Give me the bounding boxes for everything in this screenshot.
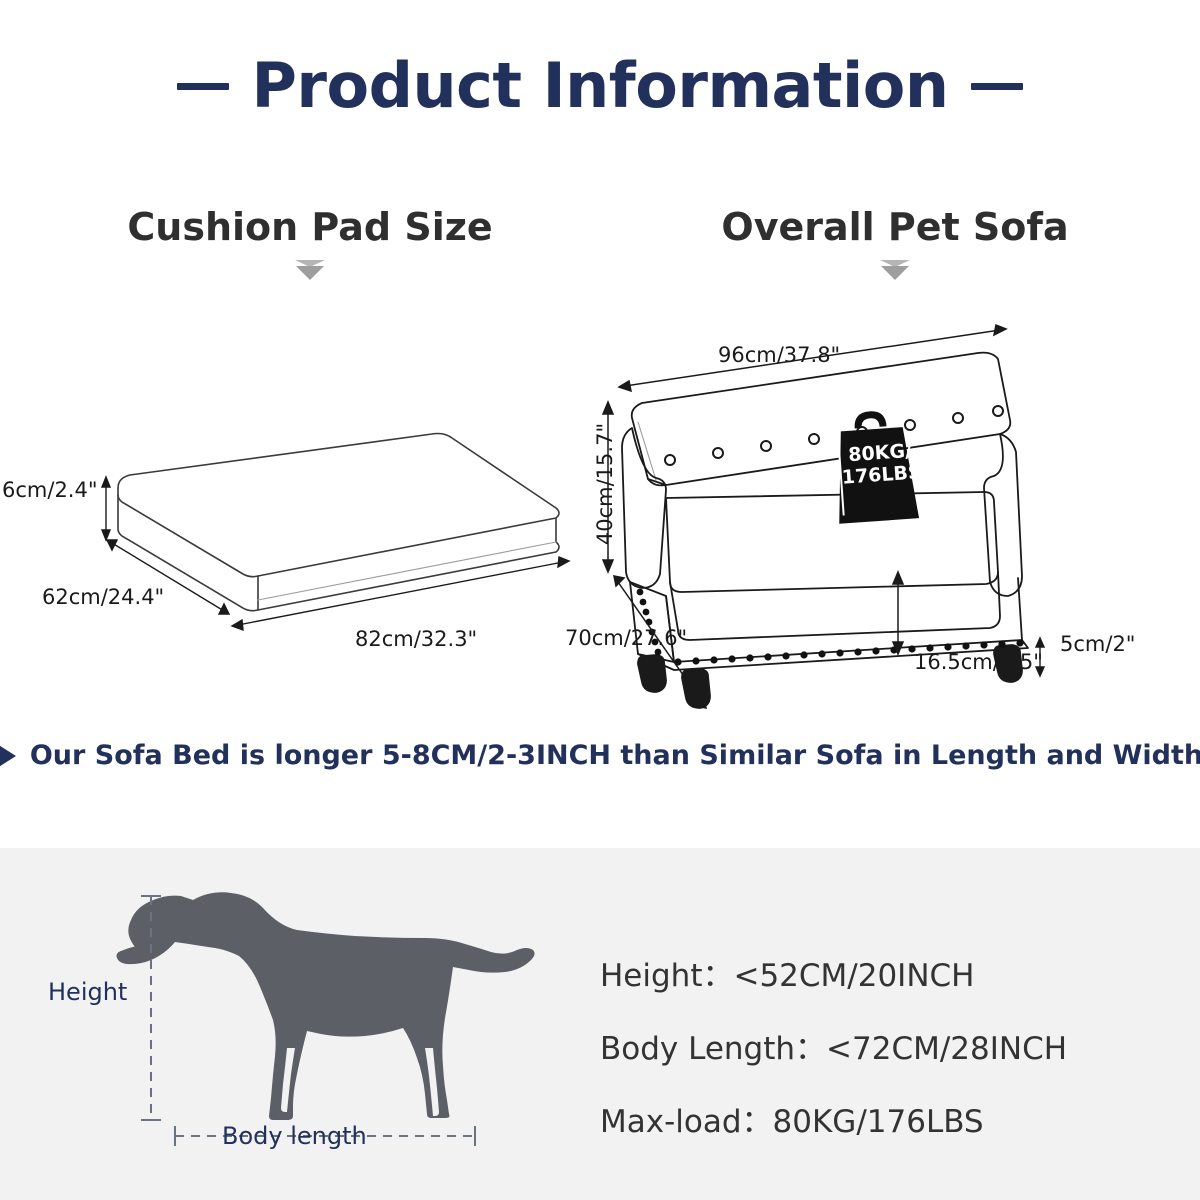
spec-height: Height：<52CM/20INCH (600, 950, 1067, 995)
title-dash-left (177, 83, 229, 90)
section-heading-cushion-label: Cushion Pad Size (80, 205, 540, 249)
sofa-depth-label: 70cm/27.6" (565, 626, 687, 650)
spec-body-length: Body Length：<72CM/28INCH (600, 1023, 1067, 1068)
cushion-thickness-label: 6cm/2.4" (2, 478, 98, 502)
section-heading-sofa: Overall Pet Sofa (665, 205, 1125, 281)
section-heading-cushion: Cushion Pad Size (80, 205, 540, 281)
page-title-row: Product Information (0, 55, 1200, 117)
pet-sofa-diagram: 96cm/37.8" 40cm/15.7" 70cm/27.6" 16.5cm/… (570, 310, 1200, 720)
title-dash-right (971, 83, 1023, 90)
pet-sofa-drawing (570, 310, 1200, 720)
cushion-width-label: 62cm/24.4" (42, 585, 164, 609)
sofa-height-label: 40cm/15.7" (593, 423, 617, 545)
sofa-seat-height-label: 16.5cm/6.5" (914, 650, 1043, 674)
dog-height-label: Height (48, 978, 127, 1006)
pet-spec-list: Height：<52CM/20INCH Body Length：<72CM/28… (600, 950, 1067, 1169)
highlight-banner: Our Sofa Bed is longer 5-8CM/2-3INCH tha… (0, 740, 1200, 771)
sofa-leg-height-label: 5cm/2" (1060, 632, 1135, 656)
double-chevron-down-icon (878, 259, 912, 281)
cushion-length-label: 82cm/32.3" (355, 627, 477, 651)
product-information-infographic: Product Information Cushion Pad Size Ove… (0, 0, 1200, 1200)
page-title: Product Information (251, 55, 948, 117)
cushion-pad-diagram: 6cm/2.4" 62cm/24.4" 82cm/32.3" (0, 330, 600, 720)
highlight-banner-text: Our Sofa Bed is longer 5-8CM/2-3INCH tha… (30, 740, 1200, 771)
double-chevron-down-icon (293, 259, 327, 281)
sofa-length-label: 96cm/37.8" (718, 343, 840, 367)
section-heading-sofa-label: Overall Pet Sofa (665, 205, 1125, 249)
cushion-pad-drawing (0, 330, 600, 720)
dog-body-length-label: Body length (222, 1122, 367, 1150)
triangle-right-icon (0, 744, 16, 768)
spec-max-load: Max-load：80KG/176LBS (600, 1096, 1067, 1141)
